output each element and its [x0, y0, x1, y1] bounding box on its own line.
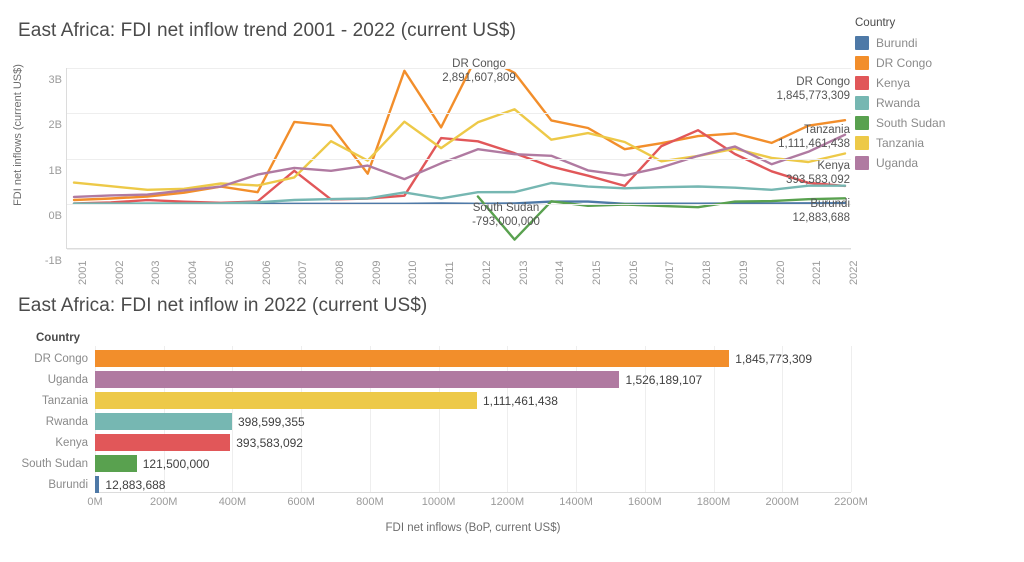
- line-chart-x-tick-label: 2008: [334, 261, 346, 285]
- bar-x-tick-label: 1600M: [628, 496, 662, 508]
- bar-dr-congo[interactable]: [95, 350, 729, 367]
- line-chart-x-tick-label: 2001: [77, 261, 89, 285]
- line-chart-x-tick-label: 2022: [848, 261, 860, 285]
- line-annotation-burundi: Burundi12,883,688: [722, 197, 850, 225]
- legend-swatch-icon: [855, 76, 869, 90]
- line-chart-gridline: [67, 113, 851, 114]
- line-chart-x-tick-label: 2011: [444, 261, 456, 285]
- bar-x-tick-label: 1400M: [559, 496, 593, 508]
- annotation-country-label: Tanzania: [722, 123, 850, 137]
- line-annotation-dr-congo: DR Congo1,845,773,309: [722, 75, 850, 103]
- bar-category-label: Kenya: [0, 437, 95, 449]
- annotation-value-label: 2,891,607,809: [419, 71, 539, 85]
- bar-chart-row[interactable]: Rwanda398,599,355: [0, 411, 1024, 432]
- legend-item-label: Tanzania: [876, 136, 924, 150]
- legend-items: BurundiDR CongoKenyaRwandaSouth SudanTan…: [855, 33, 1020, 173]
- bar-x-tick-label: 0M: [87, 496, 102, 508]
- bar-chart-title: East Africa: FDI net inflow in 2022 (cur…: [18, 295, 427, 317]
- legend-swatch-icon: [855, 116, 869, 130]
- bar-category-label: South Sudan: [0, 458, 95, 470]
- line-chart-x-tick-label: 2013: [518, 261, 530, 285]
- bar-category-label: Tanzania: [0, 395, 95, 407]
- line-chart-x-tick-label: 2020: [775, 261, 787, 285]
- line-chart-x-tick-label: 2018: [701, 261, 713, 285]
- bar-value-label: 1,526,189,107: [625, 373, 702, 387]
- legend-item-label: Uganda: [876, 156, 918, 170]
- line-chart-x-tick-label: 2006: [261, 261, 273, 285]
- bar-category-label: Rwanda: [0, 416, 95, 428]
- line-chart-y-axis-ticks: 3B2B1B0B-1B: [18, 68, 62, 249]
- line-chart-y-tick-label: 1B: [22, 165, 62, 177]
- bar-chart-x-axis-ticks: 0M200M400M600M800M1000M1200M1400M1600M18…: [95, 496, 851, 516]
- bar-x-tick-label: 600M: [287, 496, 315, 508]
- bar-burundi[interactable]: [95, 476, 99, 493]
- legend-item-kenya[interactable]: Kenya: [855, 73, 1020, 93]
- line-chart-y-tick-label: -1B: [22, 255, 62, 267]
- line-annotation-dr-congo: DR Congo2,891,607,809: [419, 57, 539, 85]
- bar-value-label: 1,111,461,438: [483, 394, 558, 408]
- bar-chart-rows: DR Congo1,845,773,309Uganda1,526,189,107…: [0, 348, 1024, 495]
- legend-swatch-icon: [855, 56, 869, 70]
- bar-chart-x-axis-title: FDI net inflows (BoP, current US$): [95, 522, 851, 534]
- line-chart-x-tick-label: 2010: [407, 261, 419, 285]
- line-annotation-tanzania: Tanzania1,111,461,438: [722, 123, 850, 151]
- legend-item-dr-congo[interactable]: DR Congo: [855, 53, 1020, 73]
- legend-swatch-icon: [855, 136, 869, 150]
- legend-item-burundi[interactable]: Burundi: [855, 33, 1020, 53]
- bar-chart-category-header: Country: [36, 332, 80, 344]
- legend-item-uganda[interactable]: Uganda: [855, 153, 1020, 173]
- bar-value-label: 1,845,773,309: [735, 352, 812, 366]
- line-annotation-south-sudan: South Sudan-793,000,000: [446, 201, 566, 229]
- bar-x-tick-label: 200M: [150, 496, 178, 508]
- bar-track: 1,526,189,107: [95, 369, 1024, 390]
- legend-item-label: Rwanda: [876, 96, 920, 110]
- annotation-value-label: 12,883,688: [722, 211, 850, 225]
- bar-rwanda[interactable]: [95, 413, 232, 430]
- bar-track: 1,845,773,309: [95, 348, 1024, 369]
- bar-track: 12,883,688: [95, 474, 1024, 495]
- annotation-value-label: 1,111,461,438: [722, 137, 850, 151]
- annotation-country-label: Burundi: [722, 197, 850, 211]
- annotation-value-label: -793,000,000: [446, 215, 566, 229]
- bar-x-tick-label: 2200M: [834, 496, 868, 508]
- annotation-country-label: South Sudan: [446, 201, 566, 215]
- line-chart-y-tick-label: 2B: [22, 119, 62, 131]
- country-legend: Country BurundiDR CongoKenyaRwandaSouth …: [855, 17, 1020, 173]
- bar-value-label: 12,883,688: [105, 478, 165, 492]
- bar-chart-row[interactable]: Kenya393,583,092: [0, 432, 1024, 453]
- bar-chart-row[interactable]: DR Congo1,845,773,309: [0, 348, 1024, 369]
- line-chart-x-tick-label: 2019: [738, 261, 750, 285]
- line-chart-x-tick-label: 2012: [481, 261, 493, 285]
- line-chart-gridline: [67, 249, 851, 250]
- bar-category-label: Burundi: [0, 479, 95, 491]
- line-chart-x-tick-label: 2017: [664, 261, 676, 285]
- bar-track: 1,111,461,438: [95, 390, 1024, 411]
- line-chart-x-tick-label: 2009: [371, 261, 383, 285]
- legend-item-label: Burundi: [876, 36, 917, 50]
- line-chart-x-tick-label: 2015: [591, 261, 603, 285]
- bar-chart-row[interactable]: South Sudan121,500,000: [0, 453, 1024, 474]
- annotation-country-label: DR Congo: [419, 57, 539, 71]
- legend-item-label: DR Congo: [876, 56, 932, 70]
- legend-title: Country: [855, 17, 1020, 29]
- legend-swatch-icon: [855, 96, 869, 110]
- bar-value-label: 398,599,355: [238, 415, 305, 429]
- bar-uganda[interactable]: [95, 371, 619, 388]
- bar-chart-row[interactable]: Uganda1,526,189,107: [0, 369, 1024, 390]
- bar-x-tick-label: 400M: [219, 496, 247, 508]
- annotation-value-label: 1,845,773,309: [722, 89, 850, 103]
- annotation-value-label: 393,583,092: [722, 173, 850, 187]
- bar-tanzania[interactable]: [95, 392, 477, 409]
- line-annotation-kenya: Kenya393,583,092: [722, 159, 850, 187]
- bar-track: 121,500,000: [95, 453, 1024, 474]
- bar-value-label: 121,500,000: [143, 457, 210, 471]
- legend-item-tanzania[interactable]: Tanzania: [855, 133, 1020, 153]
- line-chart-x-tick-label: 2021: [811, 261, 823, 285]
- line-chart-x-tick-label: 2004: [187, 261, 199, 285]
- bar-x-tick-label: 800M: [356, 496, 384, 508]
- bar-track: 393,583,092: [95, 432, 1024, 453]
- bar-x-tick-label: 1000M: [422, 496, 456, 508]
- bar-track: 398,599,355: [95, 411, 1024, 432]
- line-chart-x-tick-label: 2002: [114, 261, 126, 285]
- bar-south-sudan[interactable]: [95, 455, 137, 472]
- bar-x-tick-label: 1800M: [697, 496, 731, 508]
- line-chart-title: East Africa: FDI net inflow trend 2001 -…: [18, 20, 516, 42]
- bar-category-label: DR Congo: [0, 353, 95, 365]
- legend-swatch-icon: [855, 156, 869, 170]
- legend-item-rwanda[interactable]: Rwanda: [855, 93, 1020, 113]
- line-chart-x-tick-label: 2007: [297, 261, 309, 285]
- legend-item-label: Kenya: [876, 76, 910, 90]
- annotation-country-label: DR Congo: [722, 75, 850, 89]
- line-chart-x-tick-label: 2005: [224, 261, 236, 285]
- line-chart-x-tick-label: 2014: [554, 261, 566, 285]
- fdi-2022-bar-chart: Country DR Congo1,845,773,309Uganda1,526…: [0, 330, 1024, 562]
- line-chart-x-tick-label: 2003: [150, 261, 162, 285]
- bar-x-tick-label: 2000M: [765, 496, 799, 508]
- legend-swatch-icon: [855, 36, 869, 50]
- line-chart-y-tick-label: 3B: [22, 74, 62, 86]
- bar-value-label: 393,583,092: [236, 436, 303, 450]
- legend-item-south-sudan[interactable]: South Sudan: [855, 113, 1020, 133]
- bar-chart-row[interactable]: Tanzania1,111,461,438: [0, 390, 1024, 411]
- line-chart-x-tick-label: 2016: [628, 261, 640, 285]
- bar-x-tick-label: 1200M: [491, 496, 525, 508]
- bar-category-label: Uganda: [0, 374, 95, 386]
- annotation-country-label: Kenya: [722, 159, 850, 173]
- bar-chart-row[interactable]: Burundi12,883,688: [0, 474, 1024, 495]
- legend-item-label: South Sudan: [876, 116, 945, 130]
- line-chart-y-tick-label: 0B: [22, 210, 62, 222]
- bar-kenya[interactable]: [95, 434, 230, 451]
